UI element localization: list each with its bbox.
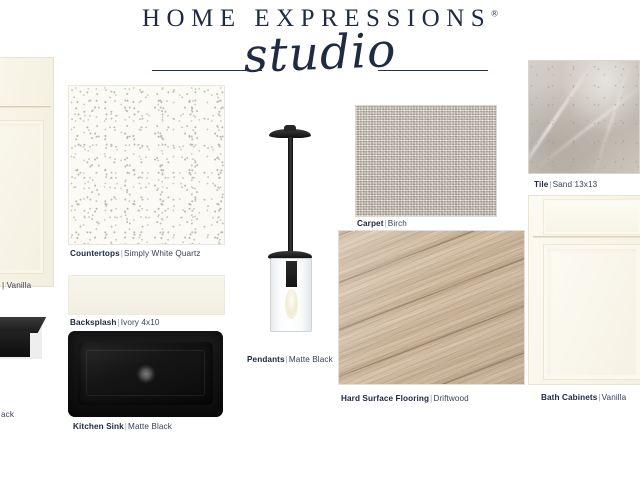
registered-trademark-icon: ® xyxy=(491,9,498,19)
label-pendants-value: Matte Black xyxy=(289,355,333,364)
label-carpet-value: Birch xyxy=(388,219,407,228)
label-tile: Tile|Sand 13x13 xyxy=(534,180,597,189)
carpet-weave-texture xyxy=(356,106,496,216)
label-pendants-key: Pendants xyxy=(247,355,285,364)
label-countertops: Countertops|Simply White Quartz xyxy=(70,249,201,258)
swatch-bath-cabinets xyxy=(528,195,640,385)
sink-drain-icon xyxy=(139,367,153,381)
label-hard-surface-flooring-value: Driftwood xyxy=(433,394,468,403)
pendant-socket xyxy=(286,261,297,287)
pendant-rod xyxy=(288,137,293,254)
label-countertops-value: Simply White Quartz xyxy=(124,249,201,258)
swatch-pendants xyxy=(245,120,335,345)
quartz-speckle-texture xyxy=(69,86,224,244)
vanity-door-panel xyxy=(543,244,640,380)
label-backsplash: Backsplash|Ivory 4x10 xyxy=(70,318,160,327)
swatch-tile xyxy=(528,60,640,174)
label-bath-cabinets-key: Bath Cabinets xyxy=(541,393,597,402)
label-carpet: Carpet|Birch xyxy=(357,219,407,228)
cabinet-rail xyxy=(0,106,51,108)
pendant-glass-shade xyxy=(270,258,312,332)
label-pendants: Pendants|Matte Black xyxy=(247,355,333,364)
swatch-backsplash xyxy=(68,275,225,315)
swatch-carpet xyxy=(355,105,497,217)
label-kitchen-sink-key: Kitchen Sink xyxy=(73,422,124,431)
swatch-hard-surface-flooring xyxy=(338,230,525,385)
label-hard-surface-flooring-key: Hard Surface Flooring xyxy=(341,394,429,403)
swatch-cabinet-hardware xyxy=(0,317,42,359)
label-backsplash-key: Backsplash xyxy=(70,318,117,327)
tile-speckle-texture xyxy=(529,61,639,173)
label-bath-cabinets-value: Vanilla xyxy=(602,393,627,402)
label-carpet-key: Carpet xyxy=(357,219,384,228)
label-kitchen-sink: Kitchen Sink|Matte Black xyxy=(73,422,172,431)
header-rule-left xyxy=(152,70,262,71)
hardware-body xyxy=(0,331,30,357)
label-backsplash-value: Ivory 4x10 xyxy=(121,318,160,327)
design-selection-board: HOME EXPRESSIONS® studio | Vanilla Count… xyxy=(0,0,640,480)
swatch-countertops xyxy=(68,85,225,245)
vanity-rail xyxy=(533,236,640,238)
label-kitchen-sink-value: Matte Black xyxy=(128,422,172,431)
wood-sheen-overlay xyxy=(339,231,524,384)
pendant-bulb-icon xyxy=(285,289,298,319)
swatch-kitchen-sink xyxy=(68,331,223,417)
vanity-drawer-front xyxy=(543,199,640,235)
label-bath-cabinets: Bath Cabinets|Vanilla xyxy=(541,393,626,402)
label-hard-surface-flooring: Hard Surface Flooring|Driftwood xyxy=(341,394,469,403)
label-countertops-key: Countertops xyxy=(70,249,120,258)
cabinet-panel xyxy=(0,120,44,274)
swatch-kitchen-cabinets xyxy=(0,57,54,287)
header-rule-right xyxy=(378,70,488,71)
label-kitchen-cabinets: | Vanilla xyxy=(2,281,31,290)
label-tile-key: Tile xyxy=(534,180,548,189)
label-cabinet-hardware: ack xyxy=(1,410,14,419)
label-tile-value: Sand 13x13 xyxy=(553,180,598,189)
